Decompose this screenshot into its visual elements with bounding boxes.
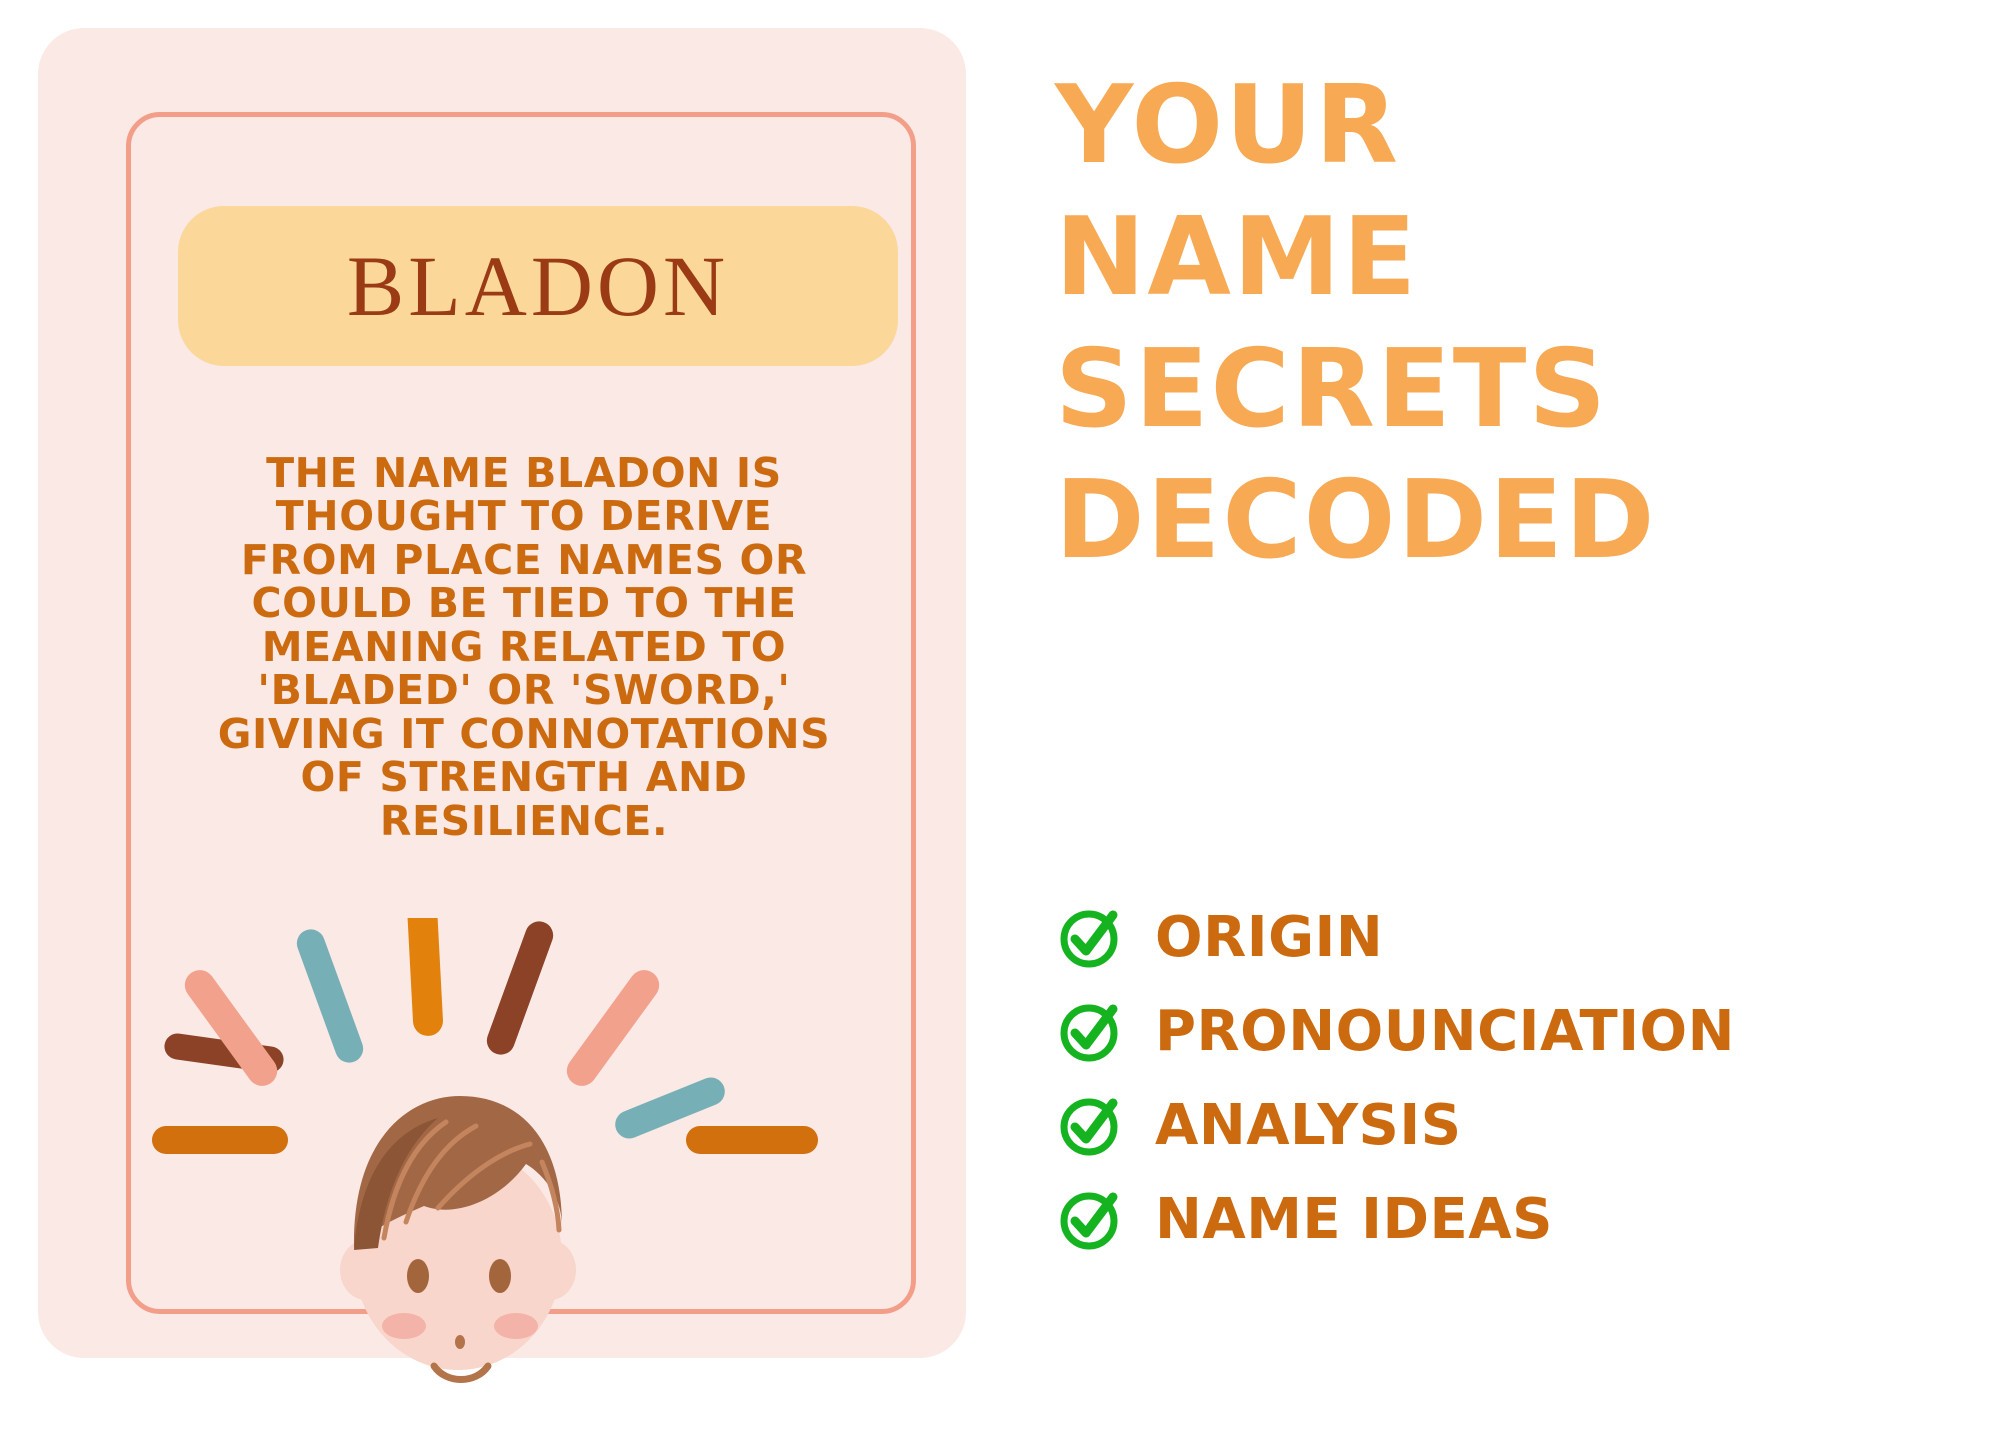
ray-teal-left [293,925,367,1066]
headline-line-1: YOUR [1055,60,1955,192]
check-circle-icon [1055,1183,1127,1255]
checklist-label-analysis: ANALYSIS [1155,1093,1462,1158]
name-pill: BLADON [178,206,898,366]
list-item: ORIGIN [1055,890,1955,984]
eye-right [489,1259,511,1293]
page-title: BLADON [347,243,729,329]
smiling-child-with-rays-illustration [138,918,838,1438]
headline-line-2: NAME [1055,192,1955,324]
ray-salmon-right [561,964,665,1092]
headline: YOUR NAME SECRETS DECODED [1055,60,1955,587]
ray-orange-far-right [686,1126,818,1154]
nose [455,1335,465,1349]
right-panel: YOUR NAME SECRETS DECODED ORIGIN PRONOUN… [1055,60,1955,1360]
eye-left [407,1259,429,1293]
child-face [340,1096,576,1380]
check-circle-icon [1055,901,1127,973]
list-item: PRONOUNCIATION [1055,984,1955,1078]
headline-line-3: SECRETS [1055,324,1955,456]
ray-orange-far-left [152,1126,288,1154]
check-circle-icon [1055,995,1127,1067]
checklist-label-name-ideas: NAME IDEAS [1155,1187,1553,1252]
list-item: NAME IDEAS [1055,1172,1955,1266]
checklist-label-origin: ORIGIN [1155,905,1383,970]
ray-salmon-left [179,964,283,1092]
checklist-label-pronounciation: PRONOUNCIATION [1155,999,1735,1064]
ray-brown-right [483,918,557,1059]
ray-orange-center [406,918,443,1037]
name-description: The name Bladon is thought to derive fro… [216,452,832,843]
headline-line-4: DECODED [1055,455,1955,587]
name-card: BLADON The name Bladon is thought to der… [38,28,966,1358]
feature-checklist: ORIGIN PRONOUNCIATION ANALYSIS NAME IDEA… [1055,890,1955,1266]
blush-left [382,1313,426,1339]
blush-right [494,1313,538,1339]
check-circle-icon [1055,1089,1127,1161]
list-item: ANALYSIS [1055,1078,1955,1172]
